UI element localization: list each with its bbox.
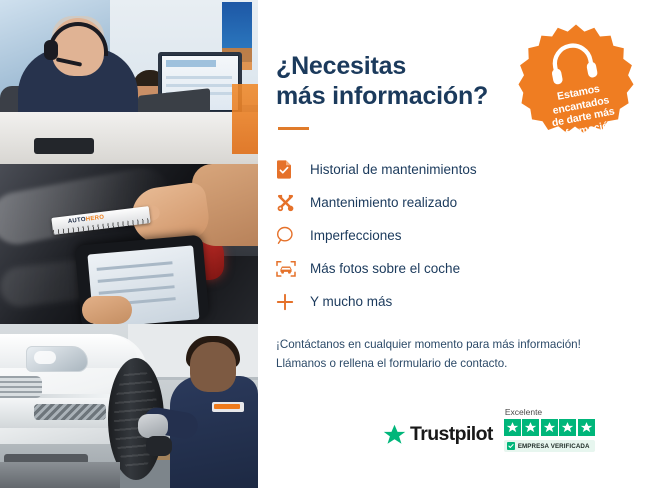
star-icon [559,419,576,436]
star-icon [578,419,595,436]
feature-list: Historial de mantenimientos [276,153,628,318]
document-check-icon [276,160,302,179]
tablet-row [99,285,175,295]
feature-item-imperfecciones[interactable]: Imperfecciones [276,219,628,252]
mechanic-glove [138,414,168,438]
mechanic-head [190,342,236,392]
feature-item-historial[interactable]: Historial de mantenimientos [276,153,628,186]
desk-tablet [34,138,94,154]
feature-item-label: Y mucho más [310,294,392,309]
contact-copy-line2: Llámanos o rellena el formulario de cont… [276,355,628,374]
headset-earcup [44,40,58,60]
orange-rack [232,84,258,154]
trustpilot-widget[interactable]: Trustpilot Excelente EMPRESA VERIFICADA [383,407,595,452]
screen-toolbar [166,60,216,67]
trustpilot-rating: Excelente EMPRESA VERIFICADA [504,407,595,452]
verified-business-badge: EMPRESA VERIFICADA [504,440,595,452]
feature-item-label: Historial de mantenimientos [310,162,477,177]
feature-item-mantenimiento[interactable]: Mantenimiento realizado [276,186,628,219]
mechanic-wheel-photo [0,324,258,488]
trustpilot-logo: Trustpilot [383,423,493,452]
tablet-row [97,261,173,271]
screen-row [166,76,232,79]
page-title-line2: más información? [276,82,488,110]
title-underline [278,127,309,130]
trustpilot-star-icon [383,424,406,446]
support-badge: Estamos encantados de darte más informac… [518,22,634,138]
trustpilot-stars [504,419,595,436]
star-icon [522,419,539,436]
star-icon [541,419,558,436]
page-title-line1: ¿Necesitas [276,52,406,80]
call-center-agents-photo [0,0,258,164]
contact-copy: ¡Contáctanos en cualquier momento para m… [276,336,628,374]
uniform-logo-mark [214,404,240,409]
tablet-row [98,273,174,283]
photo-column: AUTOHERO [0,0,258,488]
car-inspection-ruler-photo: AUTOHERO [0,164,258,324]
promo-card: AUTOHERO [0,0,650,488]
plus-icon [276,293,302,311]
feature-item-label: Imperfecciones [310,228,402,243]
check-icon [507,442,515,450]
mechanic-glove-lower [146,436,172,456]
bumper-vent [34,404,106,420]
screen-row [166,84,232,87]
verified-business-label: EMPRESA VERIFICADA [518,443,590,450]
trustpilot-rating-label: Excelente [505,407,542,417]
content-panel: ¿Necesitas más información? Estamos enca… [258,0,650,488]
car-scan-icon [276,260,302,278]
car-grille [0,376,42,398]
star-icon [504,419,521,436]
ruler-brand-hero: HERO [86,215,105,223]
car-lift [0,462,120,488]
tools-icon [276,193,302,212]
feature-item-label: Mantenimiento realizado [310,195,457,210]
headlight-highlight [34,351,56,364]
feature-item-label: Más fotos sobre el coche [310,261,460,276]
feature-item-mas[interactable]: Y mucho más [276,285,628,318]
contact-copy-line1: ¡Contáctanos en cualquier momento para m… [276,336,628,355]
trustpilot-wordmark: Trustpilot [410,423,493,446]
feature-item-fotos[interactable]: Más fotos sobre el coche [276,252,628,285]
magnifier-icon [276,226,302,245]
inspector-hand-holding-tablet [82,296,132,324]
support-badge-content: Estamos encantados de darte más informac… [508,12,644,148]
ruler-brand-auto: AUTO [68,217,87,225]
